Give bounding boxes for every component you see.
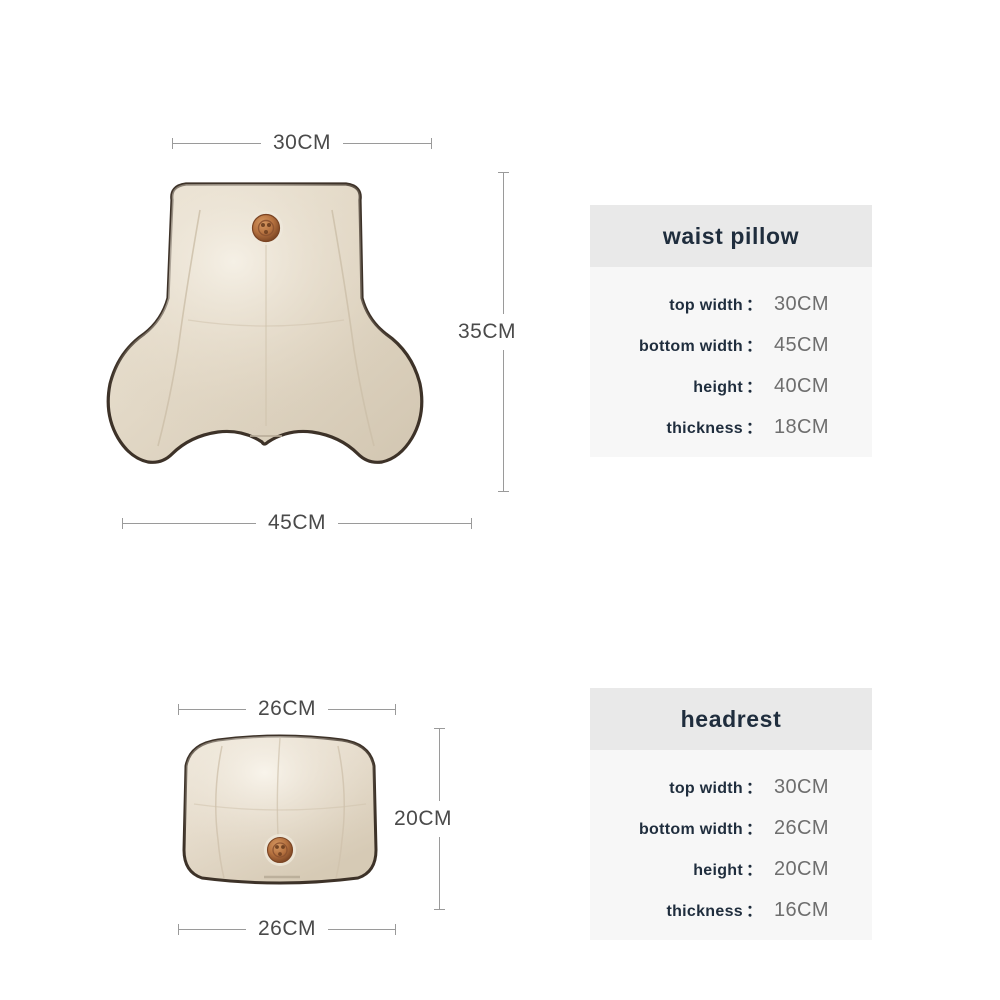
- headrest-block: 26CM: [60, 680, 560, 970]
- spec-rows: top width ： 30CM bottom width ： 45CM hei…: [590, 267, 872, 439]
- spec-row-thickness: thickness ： 16CM: [600, 897, 850, 922]
- waist-height-dimension: 35CM: [460, 172, 546, 492]
- spec-row-thickness: thickness ： 18CM: [600, 414, 850, 439]
- spec-label: bottom width: [639, 338, 743, 356]
- spec-row-bottom-width: bottom width ： 26CM: [600, 815, 850, 840]
- dimension-bar-bottom: [503, 350, 504, 492]
- spec-label: thickness: [666, 903, 743, 921]
- dimension-bar-top: [439, 728, 440, 801]
- cushion-button: [264, 834, 296, 866]
- spec-row-top-width: top width ： 30CM: [600, 774, 850, 799]
- spec-value: 30CM: [764, 293, 850, 316]
- dimension-bar-right: [328, 709, 396, 710]
- spec-panel-header: waist pillow: [590, 205, 872, 267]
- dimension-bar-right: [343, 143, 432, 144]
- waist-pillow-spec-panel: waist pillow top width ： 30CM bottom wid…: [590, 205, 872, 457]
- spec-colon: ：: [743, 373, 764, 397]
- spec-colon: ：: [743, 291, 764, 315]
- cushion-button: [249, 211, 283, 245]
- dimension-bar-top: [503, 172, 504, 314]
- spec-value: 26CM: [764, 817, 850, 840]
- dimension-bar-left: [178, 929, 246, 930]
- dimension-bar-left: [172, 143, 261, 144]
- waist-top-width-dimension: 30CM: [172, 132, 432, 154]
- spec-value: 18CM: [764, 416, 850, 439]
- waist-bottom-width-label: 45CM: [256, 511, 338, 535]
- spec-label: top width: [669, 297, 743, 315]
- spec-row-bottom-width: bottom width ： 45CM: [600, 332, 850, 357]
- spec-rows: top width ： 30CM bottom width ： 26CM hei…: [590, 750, 872, 922]
- spec-colon: ：: [743, 815, 764, 839]
- spec-colon: ：: [743, 897, 764, 921]
- spec-value: 30CM: [764, 776, 850, 799]
- spec-label: bottom width: [639, 821, 743, 839]
- spec-label: thickness: [666, 420, 743, 438]
- headrest-spec-panel: headrest top width ： 30CM bottom width ：…: [590, 688, 872, 940]
- headrest-top-width-label: 26CM: [246, 697, 328, 721]
- dimension-bar-right: [328, 929, 396, 930]
- headrest-bottom-width-dimension: 26CM: [178, 918, 396, 940]
- spec-value: 20CM: [764, 858, 850, 881]
- product-spec-sheet: 30CM: [0, 0, 1000, 1000]
- headrest-height-dimension: 20CM: [396, 728, 482, 910]
- spec-panel-title: waist pillow: [663, 223, 799, 250]
- spec-label: height: [693, 379, 743, 397]
- spec-colon: ：: [743, 856, 764, 880]
- waist-height-label: 35CM: [458, 314, 516, 350]
- dimension-bar-left: [178, 709, 246, 710]
- spec-label: top width: [669, 780, 743, 798]
- spec-colon: ：: [743, 774, 764, 798]
- waist-pillow-illustration: [100, 170, 430, 490]
- spec-panel-header: headrest: [590, 688, 872, 750]
- headrest-pillow-illustration: [160, 732, 400, 892]
- waist-top-width-label: 30CM: [261, 131, 343, 155]
- headrest-top-width-dimension: 26CM: [178, 698, 396, 720]
- spec-row-top-width: top width ： 30CM: [600, 291, 850, 316]
- headrest-bottom-width-label: 26CM: [246, 917, 328, 941]
- spec-row-height: height ： 40CM: [600, 373, 850, 398]
- headrest-height-label: 20CM: [394, 801, 452, 837]
- spec-colon: ：: [743, 332, 764, 356]
- dimension-bar-left: [122, 523, 256, 524]
- spec-row-height: height ： 20CM: [600, 856, 850, 881]
- spec-value: 40CM: [764, 375, 850, 398]
- dimension-bar-right: [338, 523, 472, 524]
- waist-pillow-block: 30CM: [60, 110, 560, 550]
- dimension-bar-bottom: [439, 837, 440, 910]
- spec-value: 45CM: [764, 334, 850, 357]
- waist-bottom-width-dimension: 45CM: [122, 512, 472, 534]
- spec-value: 16CM: [764, 899, 850, 922]
- spec-panel-title: headrest: [681, 706, 782, 733]
- spec-colon: ：: [743, 414, 764, 438]
- spec-label: height: [693, 862, 743, 880]
